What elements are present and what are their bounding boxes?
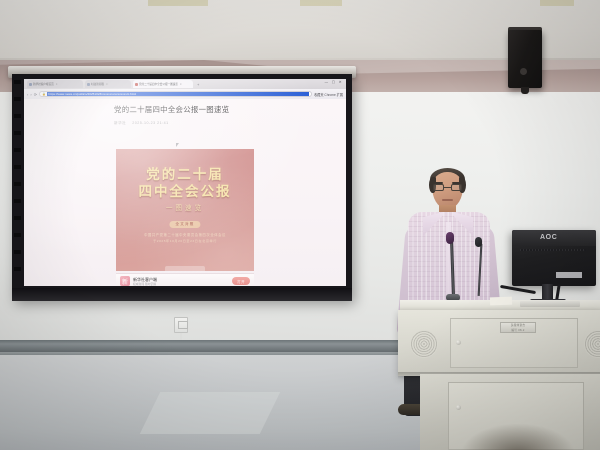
cabinet-lock[interactable]	[456, 405, 461, 410]
app-promo-text: 新华社客户端 权威新闻 随时掌握	[133, 277, 229, 286]
monitor-vent	[520, 249, 586, 251]
ceiling-tile	[540, 0, 574, 6]
screen-bottom-bar	[12, 288, 352, 301]
ceiling-tile	[148, 0, 208, 6]
article-header: 党的二十届四中全会公报一图速览 新华社 2025-10-23 21:41	[114, 105, 264, 126]
article-headline: 党的二十届四中全会公报一图速览	[114, 105, 264, 116]
article-poster-image: 党的二十届 四中全会公报 一图速览 全文对照 中国共产党第二十届中央委员会第四次…	[116, 149, 254, 271]
classroom-photo-scene: 新华社客户端首页 × 时政新闻眼 × 党的二十届四中全会公报一图速览 × + —…	[0, 0, 600, 450]
close-icon[interactable]: ×	[56, 82, 58, 86]
gooseneck-microphone-left	[446, 232, 454, 244]
lectern-nameplate: 多媒体讲台 编号 08-2	[500, 322, 536, 333]
speaker-grille	[410, 330, 438, 358]
close-icon[interactable]: ×	[106, 82, 108, 86]
paper-sheet	[490, 297, 512, 306]
open-app-button[interactable]: 打开	[232, 277, 250, 285]
ceiling-tile	[300, 0, 342, 6]
reload-icon[interactable]: ⟳	[34, 92, 37, 97]
poster-title: 党的二十届 四中全会公报	[116, 166, 254, 200]
news-favicon	[135, 83, 138, 86]
gooseneck-microphone-right	[475, 237, 482, 247]
poster-footer-line-1: 中国共产党第二十届中央委员会第四次全体会议	[116, 232, 254, 237]
tab-title: 时政新闻眼	[91, 82, 104, 86]
poster-scroll-ornament	[165, 266, 205, 271]
window-controls[interactable]: — ▢ ✕	[325, 80, 343, 84]
wall-outlet-plate	[174, 317, 188, 333]
article-timestamp: 2025-10-23 21:41	[132, 121, 168, 125]
foreground-chair-shadow	[462, 424, 574, 450]
app-icon: 新	[120, 276, 130, 286]
poster-footer-line-2: 于2025年10月20日至23日在北京举行	[116, 238, 254, 243]
poster-title-line-2: 四中全会公报	[116, 183, 254, 200]
tab-title: 党的二十届四中全会公报一图速览	[139, 82, 178, 86]
app-promo-bar[interactable]: 新 新华社客户端 权威新闻 随时掌握 打开	[116, 273, 254, 286]
poster-title-line-1: 党的二十届	[116, 166, 254, 183]
close-icon[interactable]: ×	[180, 82, 182, 86]
address-bar-url[interactable]: https://www.news.cn/politics/20251023/xx…	[47, 92, 309, 97]
browser-tab[interactable]: 新华社客户端首页 ×	[27, 80, 83, 88]
monitor-spec-label	[556, 272, 582, 278]
article-byline: 新华社 2025-10-23 21:41	[114, 121, 264, 126]
monitor-brand-logo: AOC	[540, 234, 557, 241]
browser-tab-strip: 新华社客户端首页 × 时政新闻眼 × 党的二十届四中全会公报一图速览 × + —…	[24, 79, 346, 89]
nameplate-line-2: 编号 08-2	[511, 328, 524, 332]
browser-tab-active[interactable]: 党的二十届四中全会公报一图速览 ×	[133, 80, 193, 88]
poster-subtitle: 一图速览	[116, 202, 254, 212]
page-favicon	[29, 83, 32, 86]
new-tab-button[interactable]: +	[197, 82, 199, 87]
page-favicon	[87, 83, 90, 86]
speaker-driver	[520, 68, 527, 75]
tab-title: 新华社客户端首页	[33, 82, 54, 86]
mouse-cursor	[176, 143, 181, 147]
forward-icon[interactable]: ›	[30, 92, 31, 97]
address-bar[interactable]: 🔒 https://www.news.cn/politics/20251023/…	[39, 91, 312, 98]
browser-toolbar-right[interactable]: 收藏夹 Chrome 扩展	[314, 92, 343, 97]
article-source: 新华社	[114, 121, 126, 125]
browser-window: 新华社客户端首页 × 时政新闻眼 × 党的二十届四中全会公报一图速览 × + —…	[24, 79, 346, 286]
back-icon[interactable]: ‹	[27, 92, 28, 97]
keyboard[interactable]	[520, 301, 580, 307]
eyeglasses	[433, 184, 462, 191]
wall-speaker	[508, 30, 542, 88]
projected-image: 新华社客户端首页 × 时政新闻眼 × 党的二十届四中全会公报一图速览 × + —…	[24, 79, 346, 286]
speaker-mount	[521, 87, 529, 94]
floor-reflection-patch	[140, 392, 280, 434]
nameplate-line-1: 多媒体讲台	[511, 323, 525, 327]
app-description: 权威新闻 随时掌握	[133, 282, 229, 286]
web-page-content: 党的二十届四中全会公报一图速览 新华社 2025-10-23 21:41 党的二…	[24, 99, 346, 286]
browser-toolbar: ‹ › ⟳ 🔒 https://www.news.cn/politics/202…	[24, 89, 346, 99]
lock-icon: 🔒	[42, 92, 46, 96]
poster-badge: 全文对照	[169, 221, 200, 228]
cabinet-lock[interactable]	[456, 340, 461, 345]
browser-tab[interactable]: 时政新闻眼 ×	[85, 80, 131, 88]
screen-tension-clips	[14, 80, 21, 292]
